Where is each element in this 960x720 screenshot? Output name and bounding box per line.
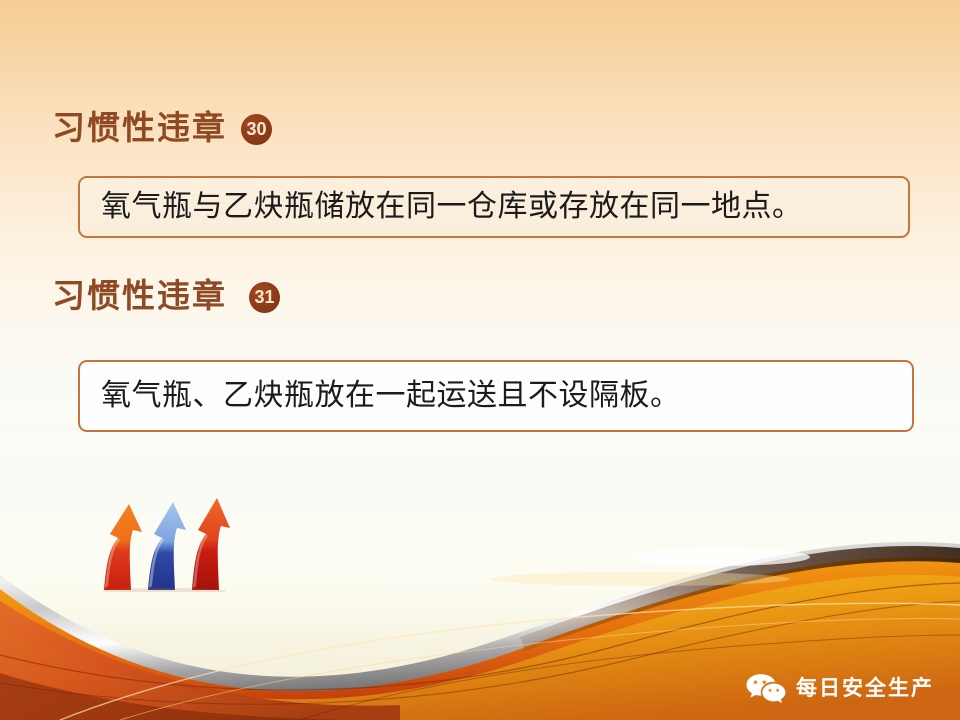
- wechat-icon: [745, 673, 787, 703]
- wechat-account-name: 每日安全生产: [796, 678, 934, 699]
- arrow-blue: [148, 502, 186, 590]
- content-text-30: 氧气瓶与乙炔瓶储放在同一仓库或存放在同一地点。: [101, 190, 803, 225]
- arrow-red: [192, 498, 230, 590]
- section-heading-31: 习惯性违章 31: [0, 272, 960, 322]
- three-arrows-graphic: [98, 492, 238, 592]
- violation-section-30: 习惯性违章 30 氧气瓶与乙炔瓶储放在同一仓库或存放在同一地点。: [0, 104, 960, 154]
- section-number-badge-30: 30: [241, 114, 272, 145]
- wechat-account-footer: 每日安全生产: [745, 672, 934, 704]
- section-number-badge-31: 31: [249, 282, 280, 313]
- heading-label-31: 习惯性违章: [52, 281, 227, 314]
- content-text-31: 氧气瓶、乙炔瓶放在一起运送且不设隔板。: [101, 379, 681, 414]
- slide-canvas: 习惯性违章 30 氧气瓶与乙炔瓶储放在同一仓库或存放在同一地点。 习惯性违章 3…: [0, 0, 960, 720]
- content-box-31: 氧气瓶、乙炔瓶放在一起运送且不设隔板。: [78, 360, 914, 432]
- heading-label-30: 习惯性违章: [52, 113, 227, 146]
- arrow-orange: [104, 504, 142, 590]
- content-box-30: 氧气瓶与乙炔瓶储放在同一仓库或存放在同一地点。: [78, 176, 910, 238]
- violation-section-31: 习惯性违章 31 氧气瓶、乙炔瓶放在一起运送且不设隔板。: [0, 272, 960, 322]
- section-heading-30: 习惯性违章 30: [0, 104, 960, 154]
